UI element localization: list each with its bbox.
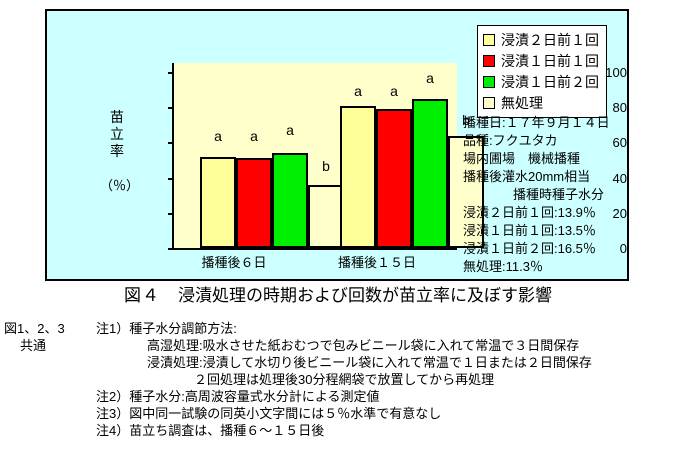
y-tick-mark-60 bbox=[168, 142, 174, 144]
figure-caption-text: 浸漬処理の時期および回数が苗立率に及ぼす影響 bbox=[178, 286, 552, 305]
y-tick-mark-80 bbox=[168, 107, 174, 109]
y-axis-unit: （％） bbox=[100, 179, 134, 192]
legend-label-1: 浸漬２日前１回 bbox=[501, 33, 599, 47]
annotation-moisture-4: 無処理:11.3％ bbox=[463, 258, 668, 276]
sig-letter-group1-series3: a bbox=[280, 123, 300, 137]
footnote-row-6: 注3）図中同一試験の同英小文字間には５％水準で有意なし bbox=[4, 405, 676, 422]
legend-item-3: 浸漬１日前２回 bbox=[483, 71, 599, 92]
footnote-row-4: ２回処理は処理後30分程網袋で放置してから再処理 bbox=[4, 371, 676, 388]
x-axis-label-group1: 播種後６日 bbox=[174, 256, 294, 270]
sig-letter-group1-series1: a bbox=[208, 129, 228, 143]
chart-annotations: 播種日:１７年９月１４日 品種:フクユタカ 場内圃場 機械播種 播種後灌水20m… bbox=[463, 114, 668, 276]
y-axis-title: 苗 立 率 bbox=[104, 109, 130, 160]
footnote-row-7: 注4）苗立ち調査は、播種６～１５日後 bbox=[4, 422, 676, 439]
legend-swatch-icon-1 bbox=[483, 34, 495, 46]
footnote-row-5: 注2）種子水分:高周波容量式水分計による測定値 bbox=[4, 388, 676, 405]
sig-letter-group1-series2: a bbox=[244, 129, 264, 143]
bar-group1-series2 bbox=[236, 158, 272, 248]
annotation-sowing-date: 播種日:１７年９月１４日 bbox=[463, 114, 668, 132]
bar-group2-series2 bbox=[376, 109, 412, 248]
footnote-scope-line2: 共通 bbox=[4, 337, 112, 354]
legend-item-2: 浸漬１日前１回 bbox=[483, 50, 599, 71]
footnote-1-sub-1: 高湿処理:吸水させた紙おむつで包みビニール袋に入れて常温で３日間保存 bbox=[147, 337, 579, 354]
y-tick-mark-20 bbox=[168, 213, 174, 215]
figure-footnotes: 図1、2、3 注1）種子水分調節方法: 共通 高湿処理:吸水させた紙おむつで包み… bbox=[4, 320, 676, 439]
sig-letter-group2-series3: a bbox=[420, 71, 440, 85]
footnote-row-3: 浸漬処理:浸漬して水切り後ビニール袋に入れて常温で１日または２日間保存 bbox=[4, 354, 676, 371]
legend-swatch-icon-2 bbox=[483, 55, 495, 67]
bar-group2-series3 bbox=[412, 99, 448, 248]
y-tick-mark-100 bbox=[168, 72, 174, 74]
annotation-moisture-2: 浸漬１日前１回:13.5％ bbox=[463, 222, 668, 240]
footnote-1-sub-2: 浸漬処理:浸漬して水切り後ビニール袋に入れて常温で１日または２日間保存 bbox=[147, 354, 592, 371]
x-axis-label-group2: 播種後１５日 bbox=[312, 256, 442, 270]
y-axis-title-char-1: 苗 bbox=[104, 109, 130, 126]
bar-group1-series3 bbox=[272, 153, 308, 248]
footnote-2: 注2）種子水分:高周波容量式水分計による測定値 bbox=[96, 388, 379, 405]
footnote-1-sub-3: ２回処理は処理後30分程網袋で放置してから再処理 bbox=[194, 371, 494, 388]
footnote-row-1: 図1、2、3 注1）種子水分調節方法: bbox=[4, 320, 676, 337]
legend-label-2: 浸漬１日前１回 bbox=[501, 54, 599, 68]
footnote-scope-line1: 図1、2、3 bbox=[4, 320, 96, 337]
legend-item-4: 無処理 bbox=[483, 92, 599, 113]
figure-caption: 図４浸漬処理の時期および回数が苗立率に及ぼす影響 bbox=[0, 286, 676, 306]
legend-item-1: 浸漬２日前１回 bbox=[483, 29, 599, 50]
legend-label-3: 浸漬１日前２回 bbox=[501, 75, 599, 89]
footnote-4: 注4）苗立ち調査は、播種６～１５日後 bbox=[96, 422, 324, 439]
sig-letter-group1-series4: b bbox=[316, 159, 336, 173]
sig-letter-group2-series2: a bbox=[384, 84, 404, 98]
chart-legend: 浸漬２日前１回 浸漬１日前１回 浸漬１日前２回 無処理 bbox=[477, 25, 607, 118]
annotation-moisture-1: 浸漬２日前１回:13.9％ bbox=[463, 204, 668, 222]
sig-letter-group2-series1: a bbox=[348, 84, 368, 98]
annotation-moisture-3: 浸漬１日前２回:16.5％ bbox=[463, 240, 668, 258]
figure-number: 図４ bbox=[124, 286, 160, 305]
y-axis-title-char-3: 率 bbox=[104, 143, 130, 160]
footnote-row-2: 共通 高湿処理:吸水させた紙おむつで包みビニール袋に入れて常温で３日間保存 bbox=[4, 337, 676, 354]
bar-group2-series1 bbox=[340, 106, 376, 248]
annotation-moisture-header: 播種時種子水分 bbox=[463, 186, 668, 204]
y-tick-mark-0 bbox=[168, 248, 174, 250]
annotation-field-method: 場内圃場 機械播種 bbox=[463, 150, 668, 168]
chart-frame: 苗 立 率 （％） 100 80 60 40 20 0 a a a b a a … bbox=[45, 9, 629, 281]
plot-area: a a a b a a a b bbox=[172, 63, 457, 250]
bar-group1-series1 bbox=[200, 157, 236, 248]
footnote-1-label: 注1）種子水分調節方法: bbox=[96, 320, 237, 337]
annotation-irrigation: 播種後灌水20mm相当 bbox=[463, 168, 668, 186]
legend-swatch-icon-3 bbox=[483, 76, 495, 88]
bar-group1-series4 bbox=[308, 185, 344, 248]
y-tick-mark-40 bbox=[168, 178, 174, 180]
footnote-3: 注3）図中同一試験の同英小文字間には５％水準で有意なし bbox=[96, 405, 441, 422]
legend-label-4: 無処理 bbox=[501, 96, 543, 110]
legend-swatch-icon-4 bbox=[483, 97, 495, 109]
y-axis-title-char-2: 立 bbox=[104, 126, 130, 143]
annotation-variety: 品種:フクユタカ bbox=[463, 132, 668, 150]
